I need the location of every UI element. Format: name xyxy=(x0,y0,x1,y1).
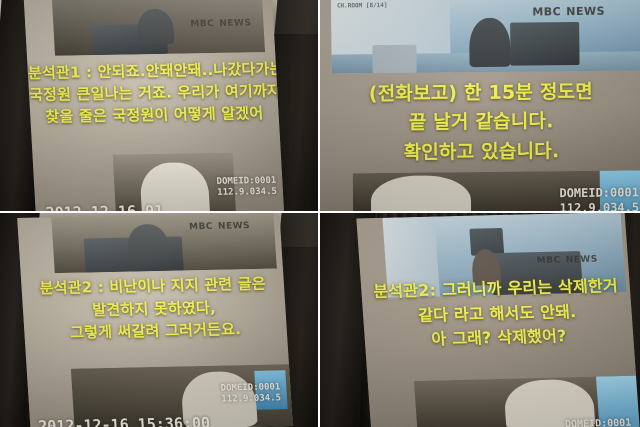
subtitle-line-3: 확인하고 있습니다. xyxy=(320,136,640,169)
photo-collage: MBC NEWS 분석관1 : 안되죠.안돼안돼..나갔다가는 국정원 큰일나는… xyxy=(0,0,640,427)
collage-panel-bottom-left: MBC NEWS 분석관2 : 비난이나 지지 관련 글은 발견하지 못하였다,… xyxy=(0,213,318,427)
subtitle-line-3: 아 그래? 삭제했어? xyxy=(364,323,634,354)
broadcaster-logo-bl: MBC NEWS xyxy=(189,221,251,232)
projection-screen-bl: MBC NEWS 분석관2 : 비난이나 지지 관련 글은 발견하지 못하였다,… xyxy=(17,213,293,427)
dome-id-value: DOMEID:0001 xyxy=(216,175,276,187)
logo-left-mark-tr: MBC xyxy=(532,5,561,18)
projection-screen: MBC NEWS 분석관1 : 안되죠.안돼안돼..나갔다가는 국정원 큰일나는… xyxy=(24,0,285,211)
projection-screen-tr: MBC NEWS CH.ROOM [8/14] (전화보고) 한 15분 정도면… xyxy=(320,0,640,211)
subtitle-line-3: 찾을 줄은 국정원이 어떻게 알겠어 xyxy=(30,102,279,128)
logo-right-mark-bl: NEWS xyxy=(218,221,251,232)
dome-id-overlay: DOMEID:0001 112.9.034.5 xyxy=(216,175,277,199)
projection-screen-br: MBC NEWS 분석관2: 그러니까 우리는 삭제한거 같다 라고 해서도 안… xyxy=(356,213,639,427)
broadcaster-logo: MBC NEWS xyxy=(190,18,252,29)
dome-id-value: DOMEID:0001 xyxy=(565,418,632,427)
dome-id-overlay-bl: DOMEID:0001 112.9.034.5 xyxy=(220,382,281,406)
logo-right-mark: NEWS xyxy=(219,18,252,29)
collage-panel-top-left: MBC NEWS 분석관1 : 안되죠.안돼안돼..나갔다가는 국정원 큰일나는… xyxy=(0,0,318,211)
dome-id-overlay-tr: DOMEID:0001 112.9.034.5 xyxy=(559,186,639,211)
broadcaster-logo-tr: MBC NEWS xyxy=(532,5,605,19)
video-timestamp: 2012-12-16 01 xyxy=(45,202,163,211)
subtitle-block-br: 분석관2: 그러니까 우리는 삭제한거 같다 라고 해서도 안돼. 아 그래? … xyxy=(359,252,635,376)
cctv-corner-tag-tr: CH.ROOM [8/14] xyxy=(337,2,388,10)
subtitle-line-1: (전화보고) 한 15분 정도면 xyxy=(320,77,640,110)
subtitle-block: 분석관1 : 안되죠.안돼안돼..나갔다가는 국정원 큰일나는 거죠. 우리가 … xyxy=(26,36,280,150)
dome-id-overlay-br: DOMEID:0001 xyxy=(565,418,632,427)
logo-right-mark-tr: NEWS xyxy=(566,5,605,18)
dome-ip-value: 112.9.034.5 xyxy=(560,200,640,211)
collage-gutter-horizontal xyxy=(0,211,640,213)
cctv-video-frame-tr: MBC NEWS CH.ROOM [8/14] xyxy=(331,0,640,74)
logo-left-mark: MBC xyxy=(190,19,214,29)
dome-id-value: DOMEID:0001 xyxy=(559,186,639,201)
subtitle-line-3: 그렇게 써갈려 그러거든요. xyxy=(24,318,288,346)
logo-left-mark-bl: MBC xyxy=(189,222,214,232)
collage-panel-bottom-right: MBC NEWS 분석관2: 그러니까 우리는 삭제한거 같다 라고 해서도 안… xyxy=(320,213,640,427)
collage-panel-top-right: MBC NEWS CH.ROOM [8/14] (전화보고) 한 15분 정도면… xyxy=(320,0,640,211)
dome-id-value: DOMEID:0001 xyxy=(220,382,280,394)
subtitle-block-tr: (전화보고) 한 15분 정도면 끝 날거 같습니다. 확인하고 있습니다. xyxy=(320,70,640,175)
dome-ip-value: 112.9.034.5 xyxy=(221,393,281,405)
collage-gutter-vertical xyxy=(318,0,320,427)
subtitle-block-bl: 분석관2 : 비난이나 지지 관련 글은 발견하지 못하였다, 그렇게 써갈려 … xyxy=(20,250,289,367)
dome-ip-value: 112.9.034.5 xyxy=(217,187,277,199)
subtitle-line-2: 끝 날거 같습니다. xyxy=(320,107,640,140)
